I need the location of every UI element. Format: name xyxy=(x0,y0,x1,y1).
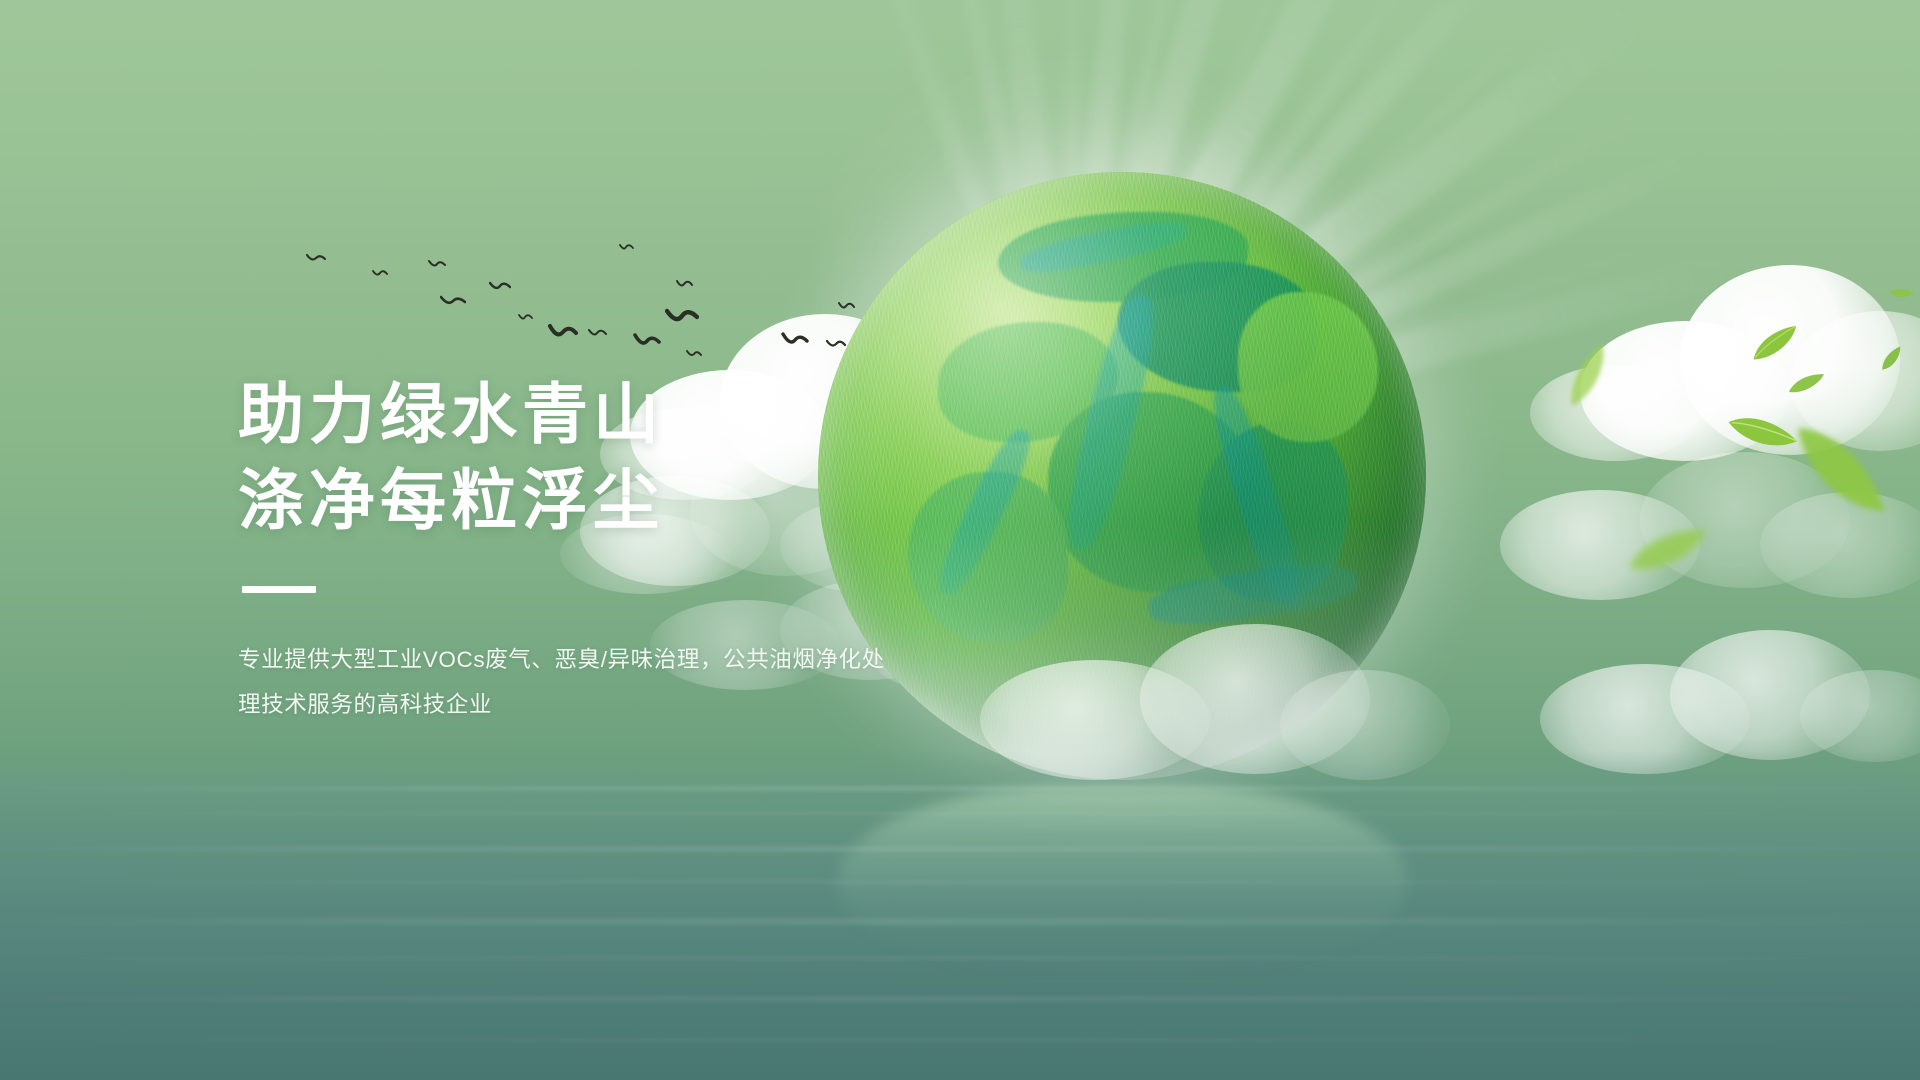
leaf-icon xyxy=(1782,404,1894,540)
water-surface xyxy=(0,750,1920,1080)
leaf-icon xyxy=(1875,343,1912,377)
bird-icon xyxy=(428,259,446,277)
leaf-icon xyxy=(1886,282,1917,308)
headline-line-1: 助力绿水青山 xyxy=(238,372,938,458)
bird-icon xyxy=(676,278,693,296)
bird-icon xyxy=(665,305,699,334)
leaf-icon xyxy=(1744,321,1808,371)
bird-icon xyxy=(548,322,578,351)
headline-divider xyxy=(242,586,316,593)
cloud-right-mid xyxy=(1500,430,1920,620)
leaf-icon xyxy=(1720,399,1802,470)
bird-icon xyxy=(489,280,511,300)
globe-reflection xyxy=(838,786,1408,976)
bird-icon xyxy=(306,253,326,272)
leaf-icon xyxy=(1554,340,1627,415)
hero-banner: 助力绿水青山 涤净每粒浮尘 专业提供大型工业VOCs废气、恶臭/异味治理，公共油… xyxy=(0,0,1920,1080)
cloud-right xyxy=(1580,255,1920,485)
bird-icon xyxy=(440,294,466,315)
hero-copy: 助力绿水青山 涤净每粒浮尘 专业提供大型工业VOCs废气、恶臭/异味治理，公共油… xyxy=(238,372,938,727)
bird-icon xyxy=(518,311,533,329)
bird-icon xyxy=(619,241,634,259)
cloud-right-lower xyxy=(1520,610,1920,790)
bird-icon xyxy=(372,268,388,286)
bird-icon xyxy=(588,327,607,345)
hero-subtitle: 专业提供大型工业VOCs废气、恶臭/异味治理，公共油烟净化处理技术服务的高科技企… xyxy=(238,637,898,727)
leaf-icon xyxy=(1622,524,1713,581)
headline-line-2: 涤净每粒浮尘 xyxy=(238,458,938,544)
leaf-icon xyxy=(1785,370,1829,401)
bird-icon xyxy=(633,332,661,357)
bird-icon xyxy=(781,330,809,355)
bird-icon xyxy=(686,348,702,366)
